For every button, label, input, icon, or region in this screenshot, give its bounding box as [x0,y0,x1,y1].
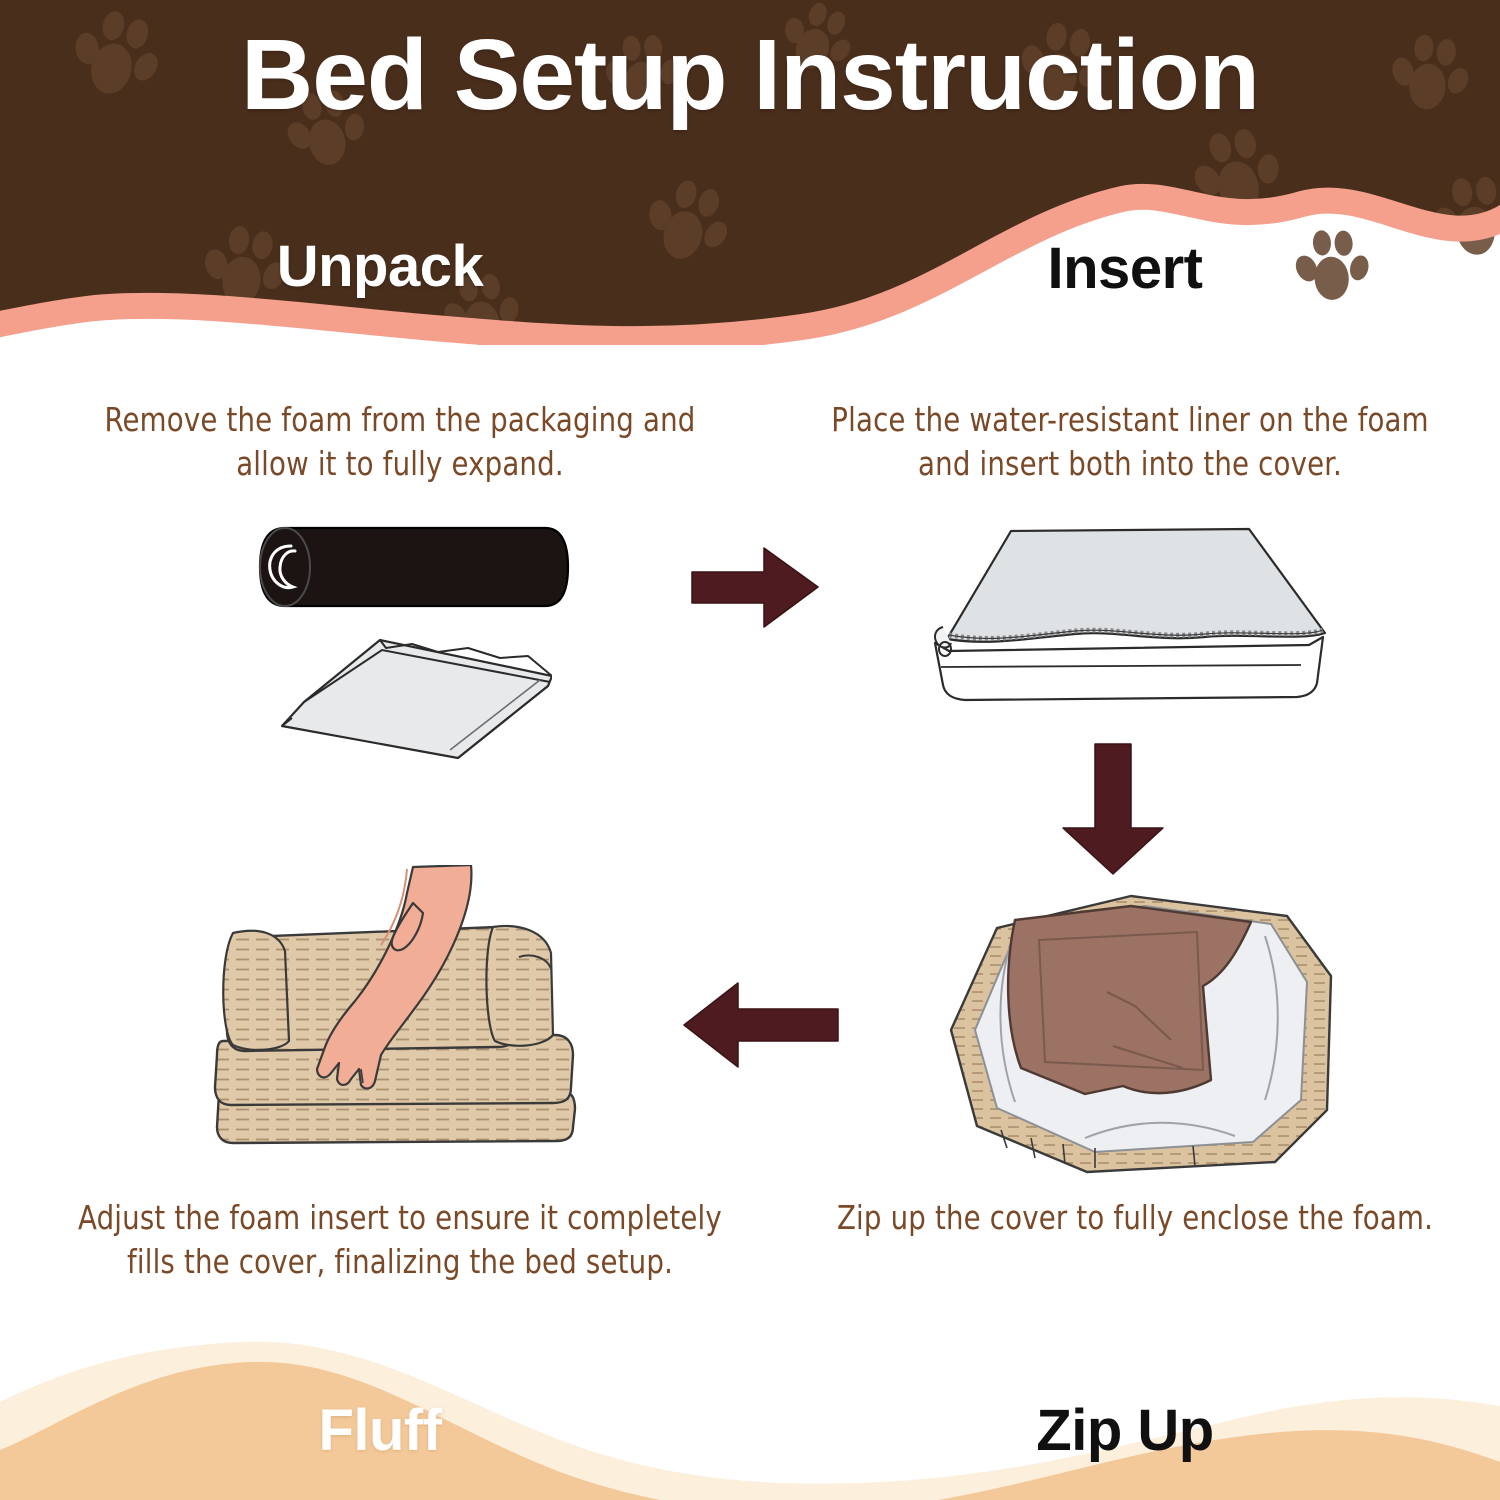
illustration-open-cover-with-insert [935,880,1355,1185]
instruction-poster: Bed Setup Instruction Unpack Insert Remo… [0,0,1500,1500]
illustration-foam-with-liner-zipper [905,515,1335,710]
step-label-insert: Insert [750,240,1500,298]
illustration-folded-liner [262,630,552,765]
page-title: Bed Setup Instruction [0,18,1500,133]
step-label-unpack: Unpack [0,238,760,296]
arrow-down-icon [1055,742,1170,877]
step-description-unpack: Remove the foam from the packaging and a… [70,398,730,485]
step-label-fluff: Fluff [0,1402,760,1460]
step-description-zipup: Zip up the cover to fully enclose the fo… [814,1196,1456,1240]
step-description-fluff: Adjust the foam insert to ensure it comp… [70,1196,730,1283]
step-label-zipup: Zip Up [750,1402,1500,1460]
step-description-insert: Place the water-resistant liner on the f… [805,398,1456,485]
illustration-rolled-foam [255,520,575,615]
arrow-right-icon [690,540,820,635]
illustration-bed-with-hand [175,865,600,1165]
arrow-left-icon [680,975,840,1075]
